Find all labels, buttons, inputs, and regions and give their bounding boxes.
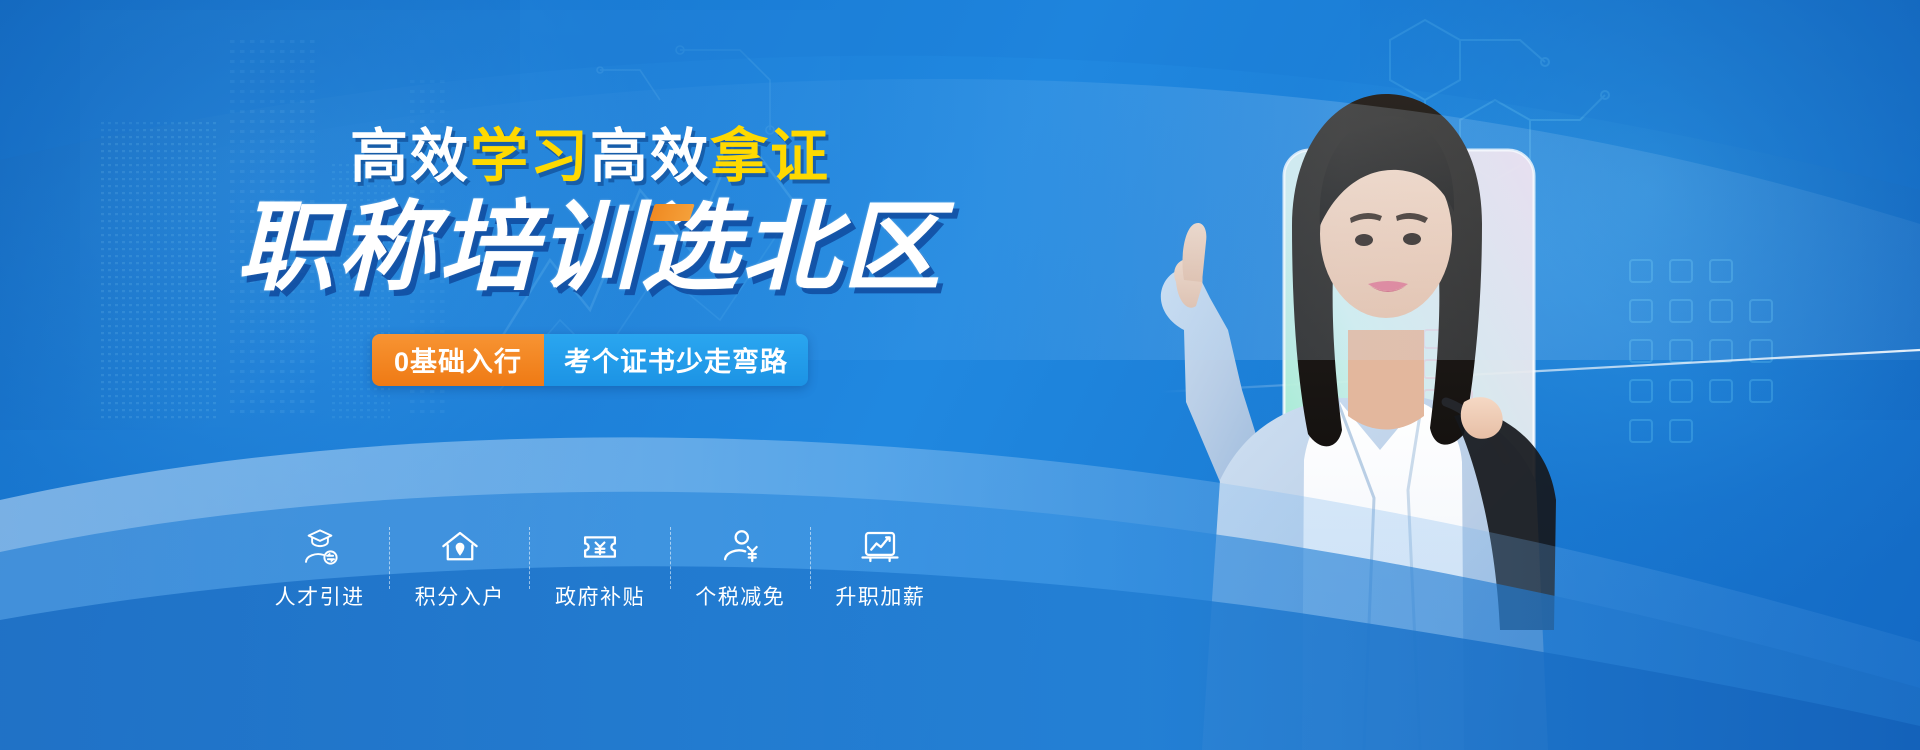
badge-row: 0基础入行 考个证书少走弯路: [0, 334, 1180, 386]
main-headline: 职称培训选北区: [0, 198, 1180, 298]
feature-label: 人才引进: [275, 581, 365, 611]
feature-label: 升职加薪: [835, 581, 925, 611]
feature-item-residency[interactable]: 积分入户: [390, 525, 529, 611]
house-location-icon: [438, 525, 482, 569]
badge-left-label: 0基础入行: [372, 334, 544, 386]
feature-label: 政府补贴: [555, 581, 645, 611]
graduate-person-icon: [298, 525, 342, 569]
background-glow-right: [1200, 0, 1920, 600]
sub-headline-part-3: 高效: [590, 124, 710, 189]
hero-presenter-figure: [1124, 30, 1684, 750]
main-headline-after: 北区: [742, 192, 944, 302]
sub-headline-part-4: 拿证: [710, 124, 830, 189]
sub-headline-part-1: 高效: [350, 124, 470, 189]
promo-banner: 高效学习高效拿证 职称培训选北区 0基础入行 考个证书少走弯路: [0, 0, 1920, 750]
person-yuan-icon: [718, 525, 762, 569]
sub-headline-part-2: 学习: [470, 124, 590, 189]
coupon-yuan-icon: [578, 525, 622, 569]
chart-board-icon: [858, 525, 902, 569]
feature-item-subsidy[interactable]: 政府补贴: [530, 525, 669, 611]
feature-item-promotion[interactable]: 升职加薪: [811, 525, 950, 611]
main-headline-before: 职称培训: [236, 192, 640, 302]
feature-label: 积分入户: [415, 581, 505, 611]
background-shade-top-right: [1360, 0, 1920, 420]
light-ray-icon: [1160, 330, 1920, 420]
orange-accent-stroke-icon: [650, 204, 696, 221]
tagline-badge[interactable]: 0基础入行 考个证书少走弯路: [372, 334, 808, 386]
headline-block: 高效学习高效拿证 职称培训选北区 0基础入行 考个证书少走弯路: [0, 128, 1180, 386]
main-headline-accent-wrap: 选: [640, 198, 741, 298]
feature-item-tax[interactable]: 个税减免: [671, 525, 810, 611]
feature-label: 个税减免: [695, 581, 785, 611]
badge-right-label: 考个证书少走弯路: [544, 334, 808, 386]
hex-circuit-texture-icon: [1330, 0, 1890, 470]
feature-item-talent[interactable]: 人才引进: [250, 525, 389, 611]
sub-headline: 高效学习高效拿证: [0, 128, 1180, 186]
feature-strip: 人才引进 积分入户 政府补贴: [250, 525, 950, 611]
